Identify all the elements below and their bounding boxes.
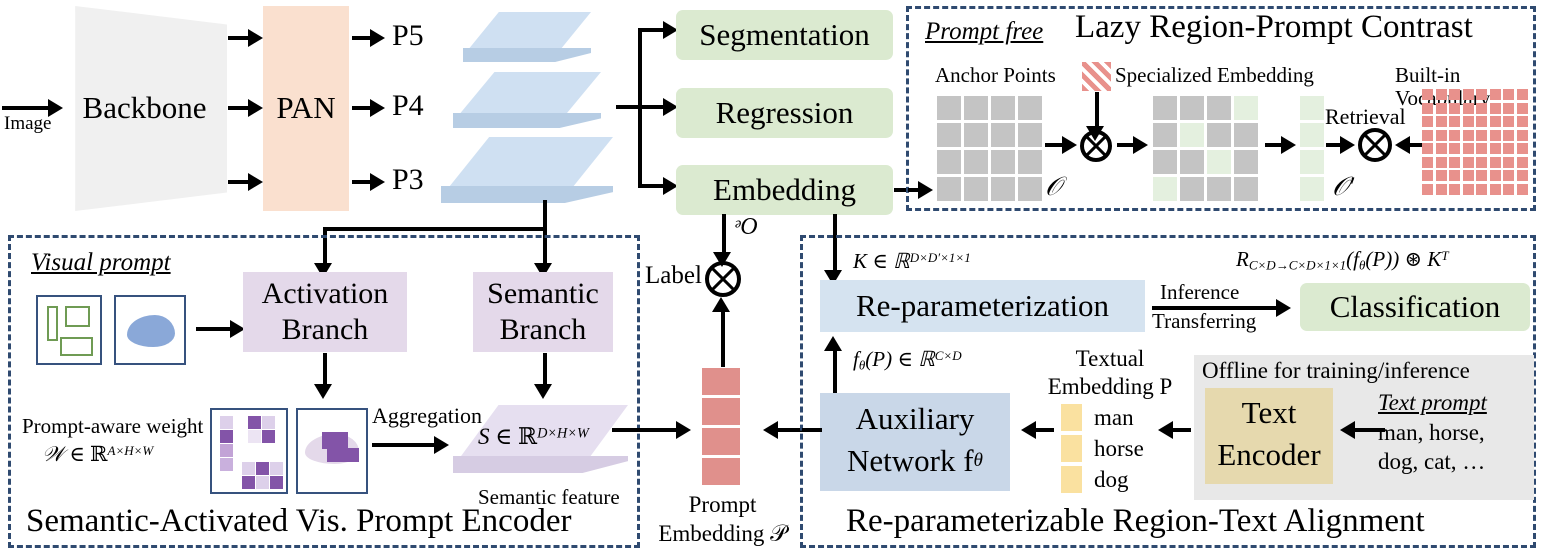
vocab-cell [1422,130,1433,141]
activation-branch-label-line1: Activation [243,276,407,312]
k-formula-lhs: K ∈ ℝ [853,249,910,273]
vocab-cell [1503,184,1514,195]
vocab-cell [1463,184,1474,195]
feature-map-p5 [463,12,591,66]
label-multiply-operator [705,261,741,297]
vocab-cell [1449,89,1460,100]
featuremap-down-line [543,200,547,230]
vocab-cell [1517,170,1528,181]
weighted-mask-image [296,408,368,494]
vocab-cell [1449,157,1460,168]
mixed-cell [1234,150,1258,174]
vocab-cell [1422,116,1433,127]
feature-map-p4 [453,72,601,132]
column-cell [1300,177,1324,201]
auxiliary-network-label-line2: Network fθ [820,440,1010,482]
vocab-cell [1503,143,1514,154]
aggregation-line [372,443,438,447]
textual-embedding-class: man [1094,405,1134,431]
vocab-cell [1436,130,1447,141]
embedding-output-symbol: ᵊO [734,214,758,241]
specialized-embedding-label: Specialized Embedding [1115,64,1314,87]
vis-panel-out-line [612,428,646,432]
vocab-cell [1449,130,1460,141]
mixed-cell [1207,96,1231,120]
activation-branch-label-line2: Branch [243,312,407,348]
classification-box[interactable]: Classification [1300,283,1530,331]
pan-label: PAN [263,85,349,131]
specialized-embedding-icon [1082,62,1111,91]
text-prompt-lines: man, horse,dog, cat, … [1378,418,1528,477]
align-panel-title: Re-parameterizable Region-Text Alignment [846,504,1425,539]
textual-embedding-item: dog [1061,466,1129,493]
anchor-to-op-arrow [1062,136,1077,154]
vocab-cell [1463,116,1474,127]
anchor-cell [1018,96,1042,120]
vocab-cell [1436,89,1447,100]
vocab-cell [1503,130,1514,141]
level-label-p4: P4 [392,90,424,122]
prompt-aware-weight-formula: 𝒲 ∈ ℝA×H×W [42,443,153,466]
textual-embedding-swatch [1061,435,1082,462]
anchor-cell [991,96,1015,120]
textual-embedding-item: horse [1061,435,1144,462]
anchor-cell [1018,150,1042,174]
vocab-cell [1422,184,1433,195]
vocab-cell [1490,89,1501,100]
backbone-label: Backbone [62,85,227,131]
prompt-embedding-block [702,368,740,395]
vis-to-prompt-arrow [676,421,691,439]
pan-out-arrow-p3 [370,173,385,191]
aggregation-arrow [434,436,449,454]
vocab-cell [1436,103,1447,114]
vocab-cell [1463,170,1474,181]
head-bracket-top [638,28,666,32]
aux-to-reparam-line [833,345,837,393]
backbone-to-pan-line-mid [228,106,250,110]
offline-label: Offline for training/inference [1202,358,1470,383]
visual-prompt-to-activation-line [196,327,234,331]
vocab-cell [1476,157,1487,168]
vocab-cell [1449,184,1460,195]
vocab-to-retrieval-arrow [1395,136,1410,154]
prompt-aware-weight-label: Prompt-aware weight [22,415,203,438]
specialized-embedding-line [1095,92,1099,130]
prompt-to-encoder-arrow [1340,421,1355,439]
mixed-cell [1180,123,1204,147]
visual-prompt-tag: Visual prompt [31,249,171,276]
activation-branch-down-arrow [314,384,332,399]
anchor-cell [1018,177,1042,201]
backbone-to-pan-line-top [228,36,250,40]
vocab-cell [1490,143,1501,154]
anchor-cell [1018,123,1042,147]
ftheta-mid: (P) ∈ ℝ [865,347,935,371]
head-bracket-bot [638,184,666,188]
feature-map-p3 [441,137,613,209]
weight-exponent: A×H×W [108,443,154,458]
mixed-cell [1234,123,1258,147]
textual-embedding-list: manhorsedog [1061,404,1181,498]
mixed-to-column-arrow [1281,136,1296,154]
vocab-cell [1463,103,1474,114]
vocab-cell [1476,130,1487,141]
segmentation-head-box[interactable]: Segmentation [676,10,893,60]
symbol-o-lazy: 𝒪 [1045,172,1061,203]
vocab-cell [1422,103,1433,114]
transferring-label: Transferring [1152,310,1256,333]
mixed-cell [1207,123,1231,147]
prompt-embedding-caption-line1: Prompt [650,492,795,518]
vocab-cell [1449,143,1460,154]
prompt-embedding-up-arrow [712,297,730,312]
vocab-cell [1422,143,1433,154]
k-formula: K ∈ ℝD×D′×1×1 [853,249,971,274]
anchor-cell [964,96,988,120]
semantic-branch-label-line2: Branch [473,312,613,348]
weight-in-r: ∈ ℝ [69,442,107,466]
prompt-embedding-up-line [721,305,725,367]
aux-network-text: Network f [847,445,974,478]
mixed-cell [1153,177,1177,201]
anchor-cell [964,123,988,147]
embedding-head-box[interactable]: Embedding [676,165,893,215]
formula-r: R [1236,247,1249,271]
vocab-cell [1449,116,1460,127]
textual-embedding-class: dog [1094,467,1129,493]
head-bracket-mid [616,105,666,109]
mixed-cell [1234,177,1258,201]
k-formula-exponent: D×D′×1×1 [910,250,971,265]
vocab-cell [1422,89,1433,100]
textual-embedding-label-line1: Textual [1045,345,1175,373]
aux-to-prompt-line [802,428,822,432]
mixed-cell [1180,177,1204,201]
vocab-cell [1503,89,1514,100]
prompt-free-tag: Prompt free [925,18,1043,45]
mixed-cell [1234,96,1258,120]
specialized-output-grid [1153,96,1258,201]
anchor-cell [937,150,961,174]
anchor-cell [964,150,988,174]
regression-head-box[interactable]: Regression [676,88,893,138]
vp-box-3 [60,337,93,356]
image-input-line [2,106,50,110]
level-label-p5: P5 [392,20,424,52]
vocab-cell [1503,170,1514,181]
vocab-cell [1436,184,1447,195]
lazy-input-line [908,188,920,192]
vocab-cell [1517,116,1528,127]
anchor-cell [991,123,1015,147]
vocab-cell [1503,157,1514,168]
prompt-embedding-stack [702,368,742,488]
vocab-cell [1476,89,1487,100]
anchor-cell [964,177,988,201]
vocab-cell [1422,157,1433,168]
mixed-cell [1153,123,1177,147]
vocab-cell [1517,89,1528,100]
vis-panel-title: Semantic-Activated Vis. Prompt Encoder [26,504,571,539]
ftheta-formula: fθ(P) ∈ ℝC×D [853,347,962,373]
backbone-to-pan-arrow-bot [248,173,263,191]
vp-box-1 [47,306,58,341]
vocab-cell [1517,103,1528,114]
builtin-vocabulary-grid [1422,89,1530,197]
vocab-cell [1463,157,1474,168]
mixed-cell [1180,150,1204,174]
vocab-cell [1476,103,1487,114]
text-prompt-line: dog, cat, … [1378,447,1528,476]
mixed-cell [1153,96,1177,120]
visual-prompt-mask-image [114,295,186,365]
weight-symbol: 𝒲 [42,442,64,466]
reparameterization-label: Re-parameterization [820,283,1145,329]
column-to-retrieval-arrow [1340,136,1355,154]
vocab-cell [1503,116,1514,127]
vocab-cell [1463,130,1474,141]
op-to-mixed-arrow [1133,136,1148,154]
auxiliary-network-label-line1: Auxiliary [820,398,1010,440]
vocab-cell [1422,170,1433,181]
level-label-p3: P3 [392,164,424,196]
vocab-cell [1449,170,1460,181]
mixed-cell [1153,150,1177,174]
inference-formula: RC×D→C×D×1×1(fθ(P)) ⊛ KT [1236,247,1449,273]
column-cell [1300,123,1324,147]
anchor-points-label: Anchor Points [935,64,1056,87]
formula-subscript: C×D→C×D×1×1 [1249,257,1346,272]
multiply-operator-lazy [1080,130,1112,162]
retrieved-column-grid [1300,96,1324,201]
prompt-aware-weight-image [210,408,288,494]
vocab-cell [1463,143,1474,154]
vocab-cell [1490,157,1501,168]
column-cell [1300,96,1324,120]
vocab-cell [1517,157,1528,168]
backbone-to-pan-line-bot [228,180,250,184]
pan-out-arrow-p4 [370,99,385,117]
textual-embedding-item: man [1061,404,1134,431]
semantic-feature-exponent: D×H×W [537,426,589,442]
text-prompt-tag: Text prompt [1378,390,1487,415]
vocab-cell [1436,157,1447,168]
backbone-to-pan-arrow-top [248,29,263,47]
vis-to-prompt-line [644,428,680,432]
vocab-cell [1476,143,1487,154]
vp-mask-blob [127,315,175,347]
pan-out-arrow-p5 [370,29,385,47]
vocab-cell [1490,170,1501,181]
anchor-cell [991,177,1015,201]
vocab-cell [1476,170,1487,181]
vocab-cell [1436,116,1447,127]
formula-superscript: T [1441,248,1448,263]
semantic-branch-label-line1: Semantic [473,276,613,312]
vocab-cell [1490,184,1501,195]
text-prompt-line: man, horse, [1378,418,1528,447]
formula-tail: (f [1346,247,1359,271]
textual-embedding-label-line2: Embedding P [1040,373,1180,401]
anchor-cell [937,177,961,201]
anchor-cell [991,150,1015,174]
textual-embedding-class: horse [1094,436,1144,462]
aux-to-reparam-arrow [824,336,842,351]
vocab-cell [1463,89,1474,100]
textual-embedding-swatch [1061,466,1082,493]
prompt-embedding-block [702,428,740,455]
text-encoder-label-line1: Text [1205,392,1333,434]
semantic-feature-symbol: S [478,424,490,449]
align-to-prompt-arrow [763,421,778,439]
vocab-cell [1490,116,1501,127]
visual-prompt-boxes-image [36,295,102,365]
anchor-cell [937,96,961,120]
vocab-cell [1517,130,1528,141]
retrieval-label: Retrieval [1325,105,1406,129]
vocab-cell [1517,184,1528,195]
semantic-branch-down-arrow [534,384,552,399]
ftheta-exponent: C×D [935,348,962,363]
formula-tail2: (P)) ⊛ K [1365,247,1441,271]
encoder-to-textual-arrow [1158,421,1173,439]
textual-embedding-swatch [1061,404,1082,431]
vocab-cell [1503,103,1514,114]
column-cell [1300,150,1324,174]
vocab-cell [1517,143,1528,154]
prompt-embedding-block [702,398,740,425]
image-label: Image [4,114,51,135]
inference-arrow [1276,299,1291,317]
textual-to-aux-arrow [1021,421,1036,439]
semantic-feature-in-r: ∈ ℝ [495,424,537,449]
mixed-cell [1180,96,1204,120]
text-encoder-label-line2: Encoder [1205,434,1333,476]
label-text: Label [645,262,702,289]
prompt-embedding-caption-line2: Embedding 𝒫 [640,520,805,548]
vocab-cell [1436,170,1447,181]
retrieval-operator [1358,128,1392,162]
vocab-cell [1490,103,1501,114]
inference-label: Inference [1160,281,1239,304]
symbol-o-prime: 𝒪′ [1332,172,1354,203]
anchor-points-grid [937,96,1042,201]
backbone-to-pan-arrow-mid [248,99,263,117]
vocab-cell [1476,116,1487,127]
vocab-cell [1436,143,1447,154]
vocab-cell [1449,103,1460,114]
lazy-panel-title: Lazy Region-Prompt Contrast [1075,10,1473,45]
anchor-cell [937,123,961,147]
vp-box-2 [65,306,90,327]
branch-bracket-horizontal [323,227,547,231]
mixed-cell [1207,177,1231,201]
mixed-cell [1207,150,1231,174]
semantic-feature-formula: S ∈ ℝD×H×W [478,424,589,450]
vocab-cell [1476,184,1487,195]
prompt-embedding-block [702,458,740,485]
vocab-cell [1490,130,1501,141]
aux-network-theta: θ [974,451,983,471]
